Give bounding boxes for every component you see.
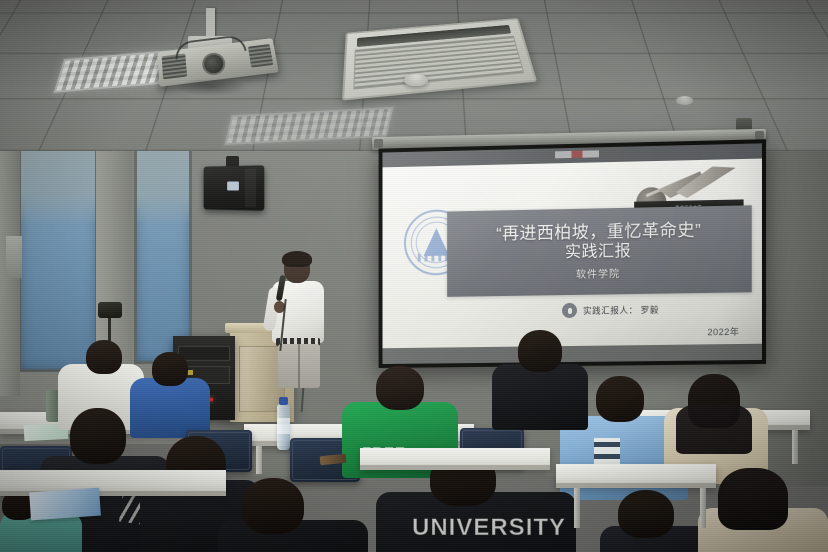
wall-speaker [204,165,265,210]
student-head [242,478,304,534]
housing-endcap [374,139,383,148]
student-dark-front-left [218,478,368,552]
smoke-detector-icon [404,74,428,86]
bottle-cap [279,397,288,405]
student-head [152,352,188,386]
slide-topbar-tag [555,150,599,158]
desk-leg [574,488,580,528]
seal-plane-glyph [424,228,450,256]
slide-title-line1: “再进西柏坡，重忆革命史” [496,220,701,244]
presenter-person [268,253,330,388]
student-head [596,376,644,422]
student-front-right [600,490,710,552]
student-longhair-right [698,468,828,552]
camera-icon [98,302,122,318]
speaker-band [245,169,256,208]
student-head [86,340,122,374]
slide-department: 软件学院 [576,266,620,282]
lecture-room-photo: 西北工业大学 “再进西柏坡，重忆革命史” 实践汇报 软件学院 实践汇报人： 罗毅 [0,0,828,552]
desk-leg [700,488,706,528]
bottle-label [277,418,290,434]
projector-shadow [176,78,248,96]
desk-row-front-right [556,464,716,488]
student-body [492,364,588,430]
slide-presenter-credit: 实践汇报人： 罗毅 [562,302,659,318]
microphone-icon [562,303,577,318]
projector-vent [248,44,273,68]
paper-sheet [29,488,101,521]
water-bottle [277,404,290,450]
presentation-slide: 西北工业大学 “再进西柏坡，重忆革命史” 实践汇报 软件学院 实践汇报人： 罗毅 [383,159,762,349]
presenter-name-text: 实践汇报人： 罗毅 [583,303,659,316]
desk-row-front-mid [360,448,550,470]
slide-title-line2: 实践汇报 [565,242,631,264]
long-hair [676,404,752,454]
window-left-1 [18,122,98,372]
student-tee-text: UNIVERSITY [412,514,566,542]
window-frame [134,128,192,364]
student-head [518,330,562,372]
student-head [618,490,674,538]
window-left-2 [134,128,192,364]
student-head [376,366,424,410]
presenter-glasses [285,265,309,271]
speaker-logo [227,182,239,191]
wall-lamp [6,236,22,278]
presenter-leg-split [298,344,300,388]
student-dark-mid [492,330,588,426]
student-head [718,468,788,530]
smoke-detector-icon [676,96,693,105]
slide-year: 2022年 [707,325,739,339]
desk-leg [792,430,798,464]
slide-title-band: “再进西柏坡，重忆革命史” 实践汇报 软件学院 [447,205,752,297]
student-head [70,408,126,464]
window-frame [18,122,98,372]
